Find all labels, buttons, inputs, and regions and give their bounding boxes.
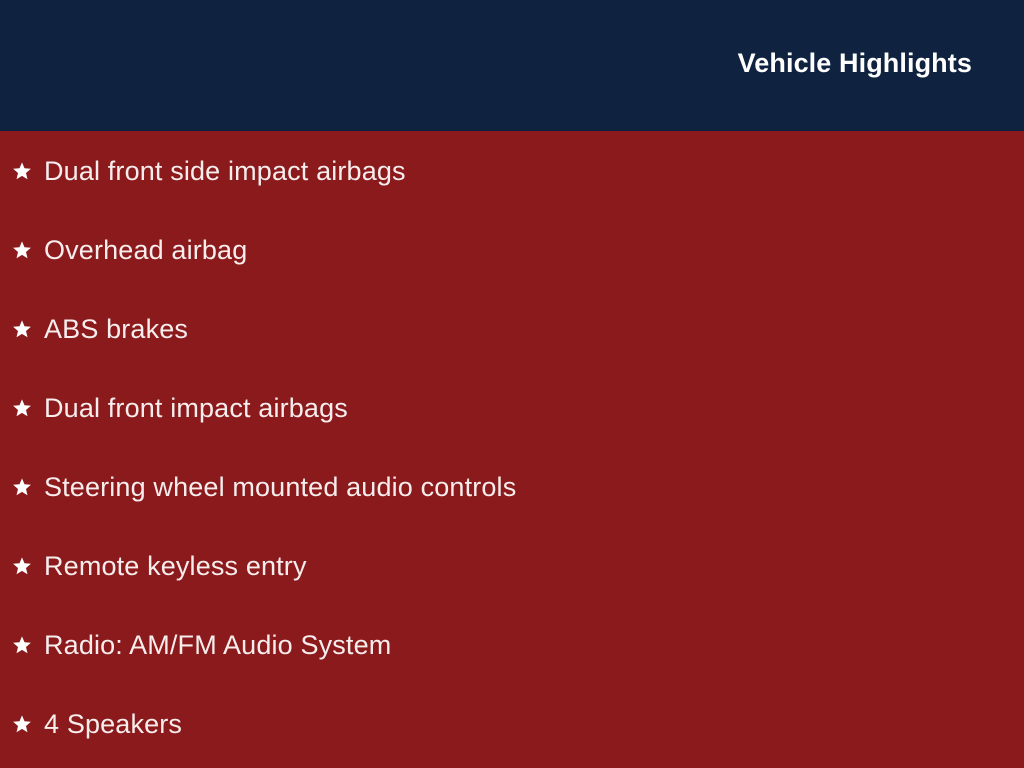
slide-body: Dual front side impact airbags Overhead … xyxy=(0,131,1024,768)
star-icon xyxy=(12,318,32,340)
list-item-label: Radio: AM/FM Audio System xyxy=(44,629,391,661)
star-icon xyxy=(12,476,32,498)
list-item-label: Dual front side impact airbags xyxy=(44,155,406,187)
list-item: 4 Speakers xyxy=(0,684,1024,763)
slide-header: Vehicle Highlights xyxy=(0,0,1024,131)
star-icon xyxy=(12,713,32,735)
star-icon xyxy=(12,239,32,261)
list-item: ABS brakes xyxy=(0,289,1024,368)
star-icon xyxy=(12,555,32,577)
list-item: Overhead airbag xyxy=(0,210,1024,289)
vehicle-highlights-slide: Vehicle Highlights Dual front side impac… xyxy=(0,0,1024,768)
list-item-label: Remote keyless entry xyxy=(44,550,307,582)
star-icon xyxy=(12,160,32,182)
list-item: Steering wheel mounted audio controls xyxy=(0,447,1024,526)
list-item-label: Overhead airbag xyxy=(44,234,247,266)
list-item: Dual front side impact airbags xyxy=(0,131,1024,210)
list-item-label: ABS brakes xyxy=(44,313,188,345)
list-item-label: Steering wheel mounted audio controls xyxy=(44,471,516,503)
star-icon xyxy=(12,397,32,419)
list-item: Remote keyless entry xyxy=(0,526,1024,605)
list-item: Radio: AM/FM Audio System xyxy=(0,605,1024,684)
star-icon xyxy=(12,634,32,656)
list-item: Dual front impact airbags xyxy=(0,368,1024,447)
page-title: Vehicle Highlights xyxy=(738,46,972,80)
list-item-label: Dual front impact airbags xyxy=(44,392,348,424)
vehicle-highlights-list: Dual front side impact airbags Overhead … xyxy=(0,131,1024,763)
list-item-label: 4 Speakers xyxy=(44,708,182,740)
